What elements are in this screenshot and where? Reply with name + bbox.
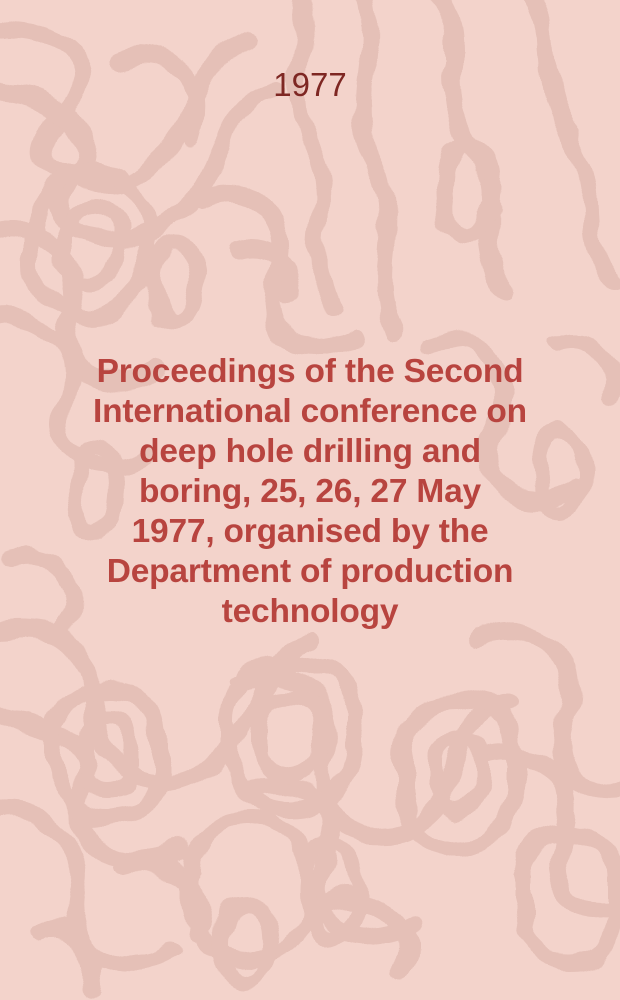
title-line: 1977, organised by the bbox=[28, 512, 592, 552]
title-line: boring, 25, 26, 27 May bbox=[28, 472, 592, 512]
title-line: deep hole drilling and bbox=[28, 432, 592, 472]
title-line: International conference on bbox=[28, 392, 592, 432]
cover-year: 1977 bbox=[0, 68, 620, 101]
title-line: Proceedings of the Second bbox=[28, 352, 592, 392]
cover-page: 1977 Proceedings of the Second Internati… bbox=[0, 0, 620, 1000]
title-line: Department of production bbox=[28, 552, 592, 592]
cover-title: Proceedings of the Second International … bbox=[28, 352, 592, 632]
title-line: technology bbox=[28, 592, 592, 632]
